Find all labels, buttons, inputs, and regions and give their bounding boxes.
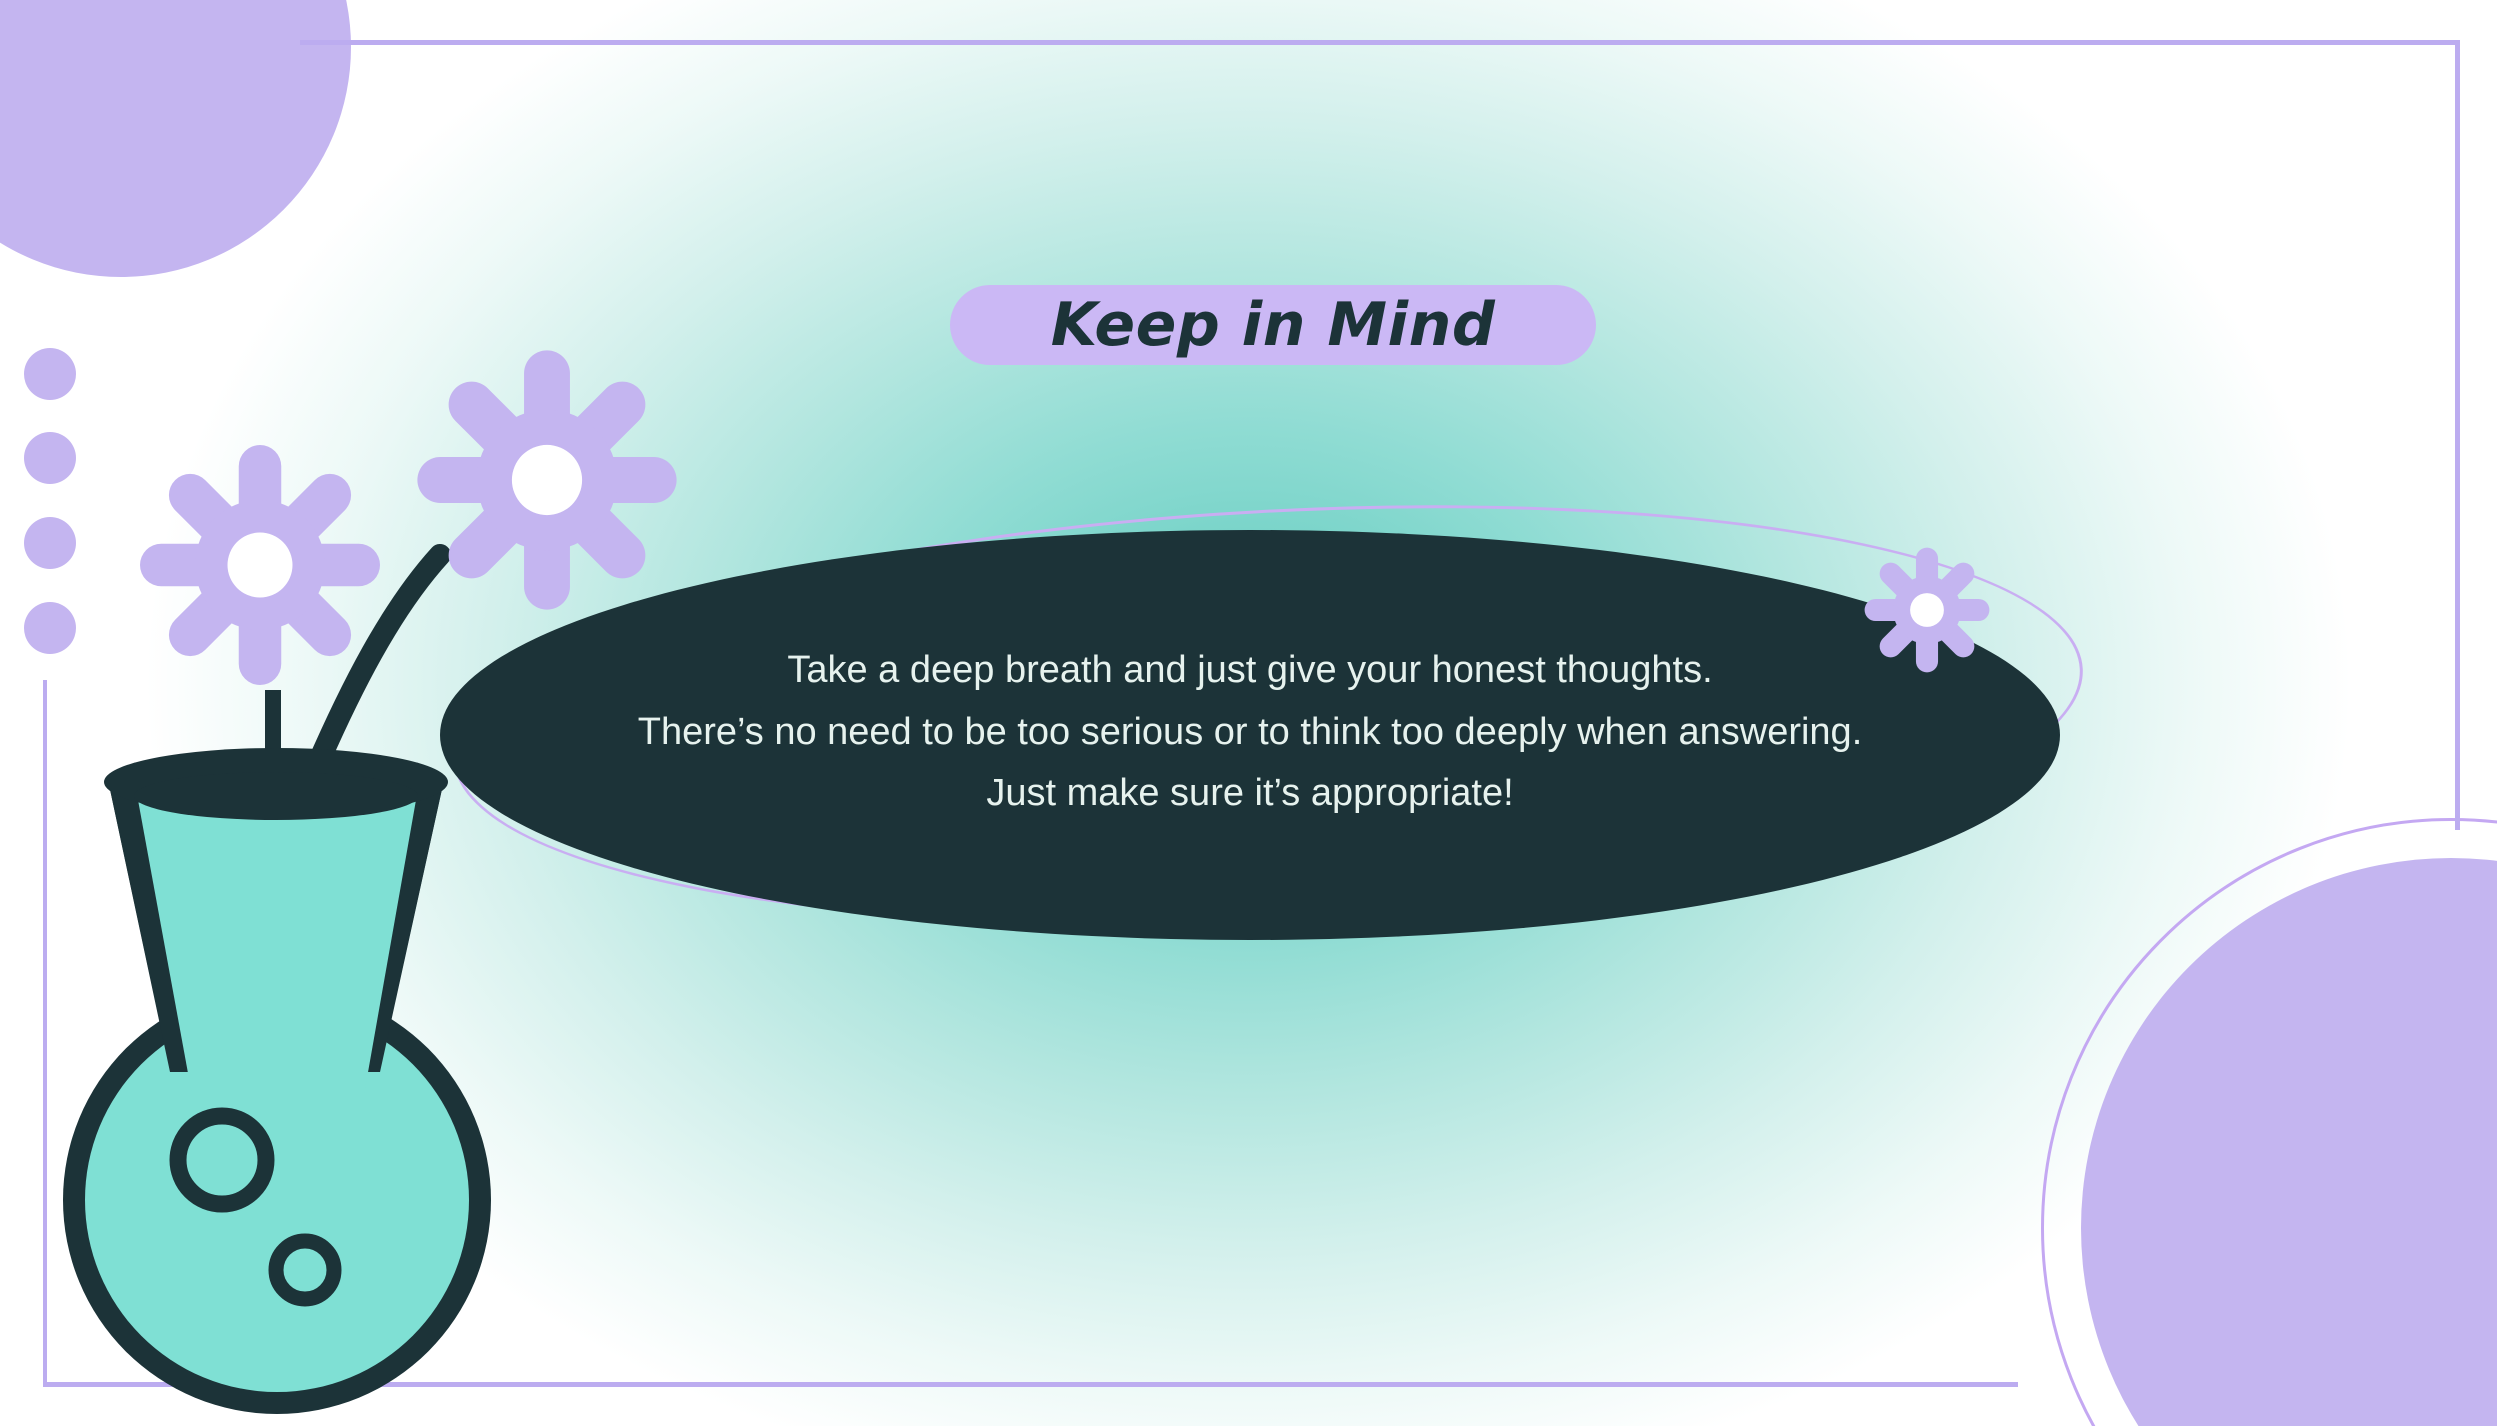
slide-canvas: Take a deep breath and just give your ho… xyxy=(0,0,2497,1426)
lavender-dot-1 xyxy=(24,348,76,400)
lavender-dot-4 xyxy=(24,602,76,654)
flask-vase-illustration xyxy=(20,700,540,1420)
flower-center xyxy=(1910,593,1944,627)
frame-line-right xyxy=(2455,40,2460,830)
vase-rim-inner xyxy=(134,772,418,820)
flower-small-right xyxy=(1862,545,1992,675)
lavender-dot-2 xyxy=(24,432,76,484)
flower-center xyxy=(512,445,582,515)
page-title: Keep in Mind xyxy=(1051,295,1496,355)
flower-large-upper xyxy=(412,345,682,615)
flower-large-left xyxy=(135,440,385,690)
title-pill: Keep in Mind xyxy=(950,285,1596,365)
flower-center xyxy=(228,533,293,598)
body-text: Take a deep breath and just give your ho… xyxy=(470,640,2030,825)
frame-line-top xyxy=(300,40,2460,45)
lavender-dot-3 xyxy=(24,517,76,569)
